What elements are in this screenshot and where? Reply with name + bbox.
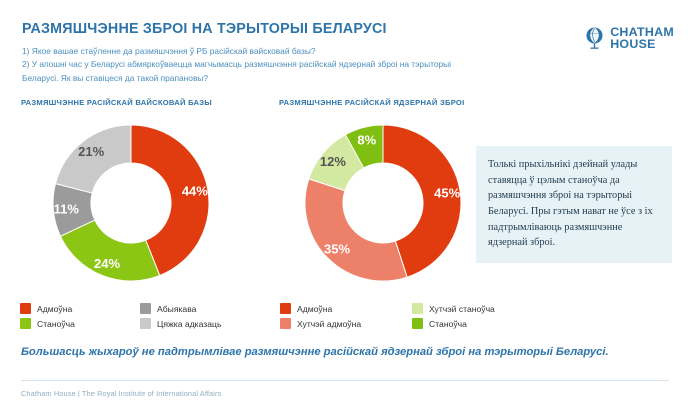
legend-swatch <box>280 318 291 329</box>
chart-heading-nuclear-weapons: РАЗМЯШЧЭННЕ РАСІЙСКАЙ ЯДЗЕРНАЙ ЗБРОІ <box>279 98 464 107</box>
legend-swatch <box>140 303 151 314</box>
legend-item: Цяжка адказаць <box>140 318 221 329</box>
legend-swatch <box>20 303 31 314</box>
legend-nuclear-weapons: Адмоўна Хутчэй станоўча Хутчэй адмоўна С… <box>280 303 495 329</box>
legend-item: Хутчэй адмоўна <box>280 318 398 329</box>
footer-text: Chatham House | The Royal Institute of I… <box>21 389 221 398</box>
question-1: 1) Якое вашае стаўленне да размяшчэння ў… <box>22 45 567 59</box>
legend-item: Адмоўна <box>20 303 126 314</box>
donut-slice-label: 12% <box>320 154 346 169</box>
donut-chart-nuclear-weapons: 45%35%12%8% <box>297 117 469 289</box>
page-title: РАЗМЯШЧЭННЕ ЗБРОІ НА ТЭРЫТОРЫІ БЕЛАРУСІ <box>22 22 670 38</box>
donut-slice-label: 8% <box>357 133 376 148</box>
logo-line-2: HOUSE <box>610 38 674 50</box>
legend-swatch <box>412 303 423 314</box>
legend-item: Адмоўна <box>280 303 398 314</box>
donut-chart-military-base: 44%24%11%21% <box>45 117 217 289</box>
footer-divider <box>21 380 669 381</box>
globe-icon <box>584 27 605 50</box>
legend-item: Станоўча <box>20 318 126 329</box>
legend-label: Адмоўна <box>37 304 72 314</box>
donut-slice-label: 35% <box>324 241 350 256</box>
question-2-line-2: Беларусі. Як вы ставіцеся да такой прапа… <box>22 72 567 86</box>
legend-item: Абыякава <box>140 303 221 314</box>
legend-label: Станоўча <box>429 319 467 329</box>
legend-label: Абыякава <box>157 304 196 314</box>
donut-slice-label: 11% <box>54 202 80 217</box>
legend-military-base: Адмоўна Абыякава Станоўча Цяжка адказаць <box>20 303 221 329</box>
conclusion-text: Большасць жыхароў не падтрымлівае размяш… <box>21 344 646 360</box>
legend-item: Станоўча <box>412 318 495 329</box>
legend-label: Хутчэй адмоўна <box>297 319 361 329</box>
question-2-line-1: 2) У апошні час у Беларусі абмяркоўваецц… <box>22 58 567 72</box>
logo-wordmark: CHATHAM HOUSE <box>610 26 674 51</box>
donut-slice <box>305 179 407 281</box>
legend-label: Хутчэй станоўча <box>429 304 495 314</box>
donut-slice-label: 21% <box>78 144 104 159</box>
survey-questions: 1) Якое вашае стаўленне да размяшчэння ў… <box>22 45 567 86</box>
legend-swatch <box>280 303 291 314</box>
legend-swatch <box>140 318 151 329</box>
legend-item: Хутчэй станоўча <box>412 303 495 314</box>
chart-heading-military-base: РАЗМЯШЧЭННЕ РАСІЙСКАЙ ВАЙСКОВАЙ БАЗЫ <box>21 98 212 107</box>
callout-box: Толькі прыхільнікі дзейнай улады ставяцц… <box>476 146 672 263</box>
donut-slice-label: 44% <box>182 183 208 198</box>
legend-label: Станоўча <box>37 319 75 329</box>
chatham-house-logo: CHATHAM HOUSE <box>584 26 674 51</box>
donut-svg-military-base: 44%24%11%21% <box>45 117 217 289</box>
legend-swatch <box>20 318 31 329</box>
legend-label: Адмоўна <box>297 304 332 314</box>
legend-label: Цяжка адказаць <box>157 319 221 329</box>
donut-slice-label: 45% <box>434 185 460 200</box>
donut-svg-nuclear-weapons: 45%35%12%8% <box>297 117 469 289</box>
donut-slice-label: 24% <box>94 256 120 271</box>
legend-swatch <box>412 318 423 329</box>
